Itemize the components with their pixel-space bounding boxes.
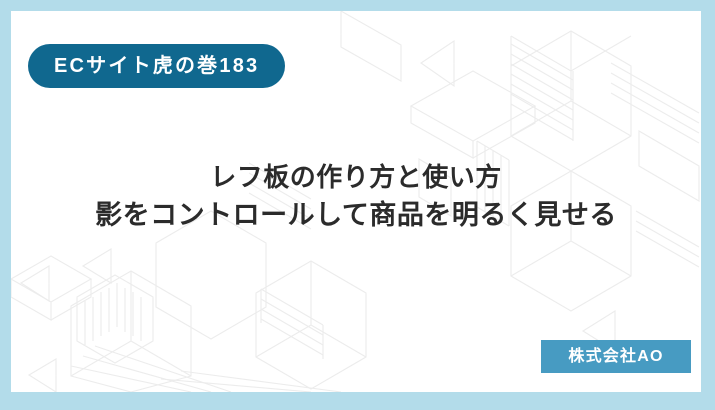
title-line-2: 影をコントロールして商品を明るく見せる [11,196,701,234]
page-title: レフ板の作り方と使い方 影をコントロールして商品を明るく見せる [11,159,701,234]
company-logo-label: 株式会社AO [568,349,663,365]
company-logo: 株式会社AO [541,340,691,373]
slide-card: ECサイト虎の巻183 レフ板の作り方と使い方 影をコントロールして商品を明るく… [11,11,701,392]
series-badge: ECサイト虎の巻183 [28,44,285,88]
series-badge-label: ECサイト虎の巻183 [54,56,259,76]
title-line-1: レフ板の作り方と使い方 [11,159,701,196]
slide-canvas: ECサイト虎の巻183 レフ板の作り方と使い方 影をコントロールして商品を明るく… [0,0,715,410]
